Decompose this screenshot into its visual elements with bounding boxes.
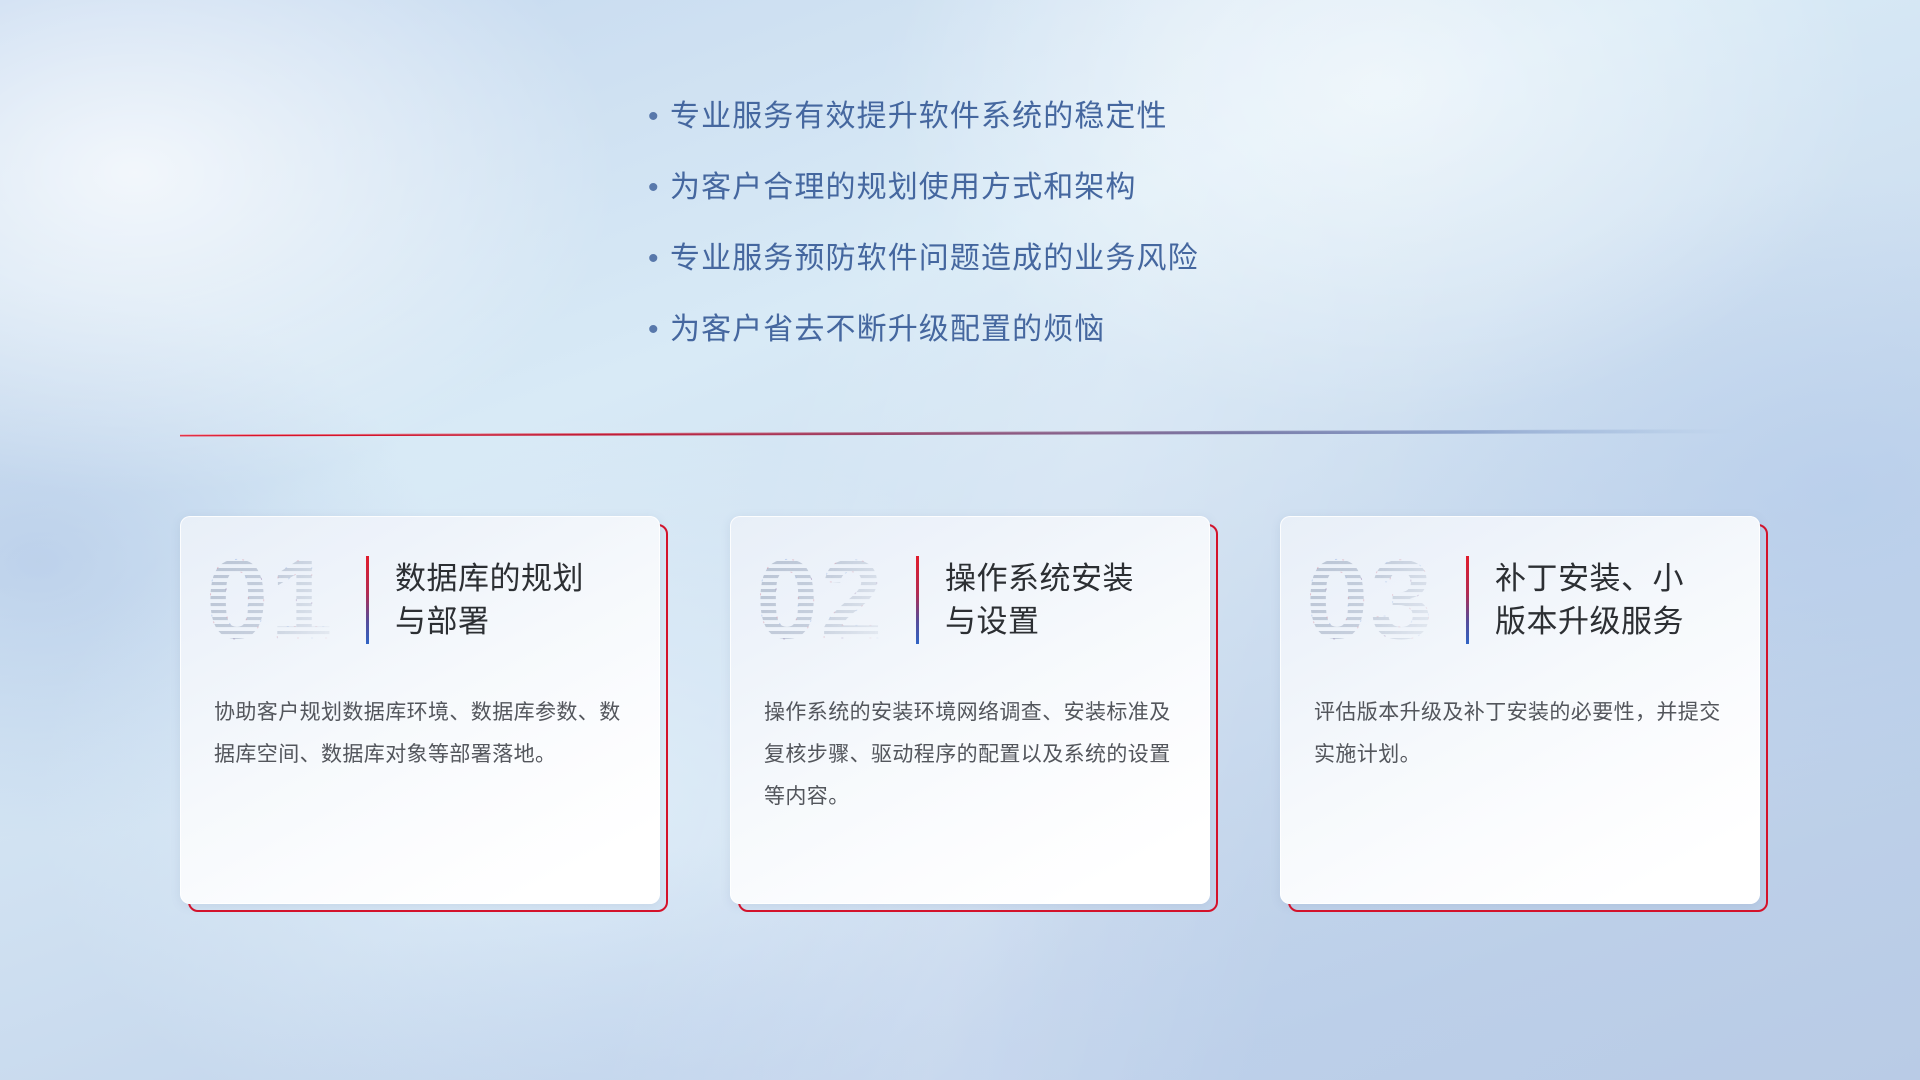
striped-number-icon: 02 02 02 (754, 540, 906, 660)
card-surface: 01 01 01 数据库的规划 与部署 协助客户规划数据库环境、数据库参数、数据… (180, 516, 660, 904)
card-title: 操作系统安装 与设置 (945, 557, 1134, 643)
card-surface: 02 02 02 操作系统安装 与设置 操作系统的安装环境网络调查、安装标准及复… (730, 516, 1210, 904)
card-title: 补丁安装、小 版本升级服务 (1495, 557, 1684, 643)
card-number-watermark: 03 03 03 (1304, 540, 1456, 660)
card-title-accent-bar (916, 556, 919, 644)
card-title-line-1: 补丁安装、小 (1495, 557, 1684, 600)
list-item: • 为客户合理的规划使用方式和架构 (640, 167, 1340, 209)
list-item: • 专业服务预防软件问题造成的业务风险 (640, 238, 1340, 280)
card-title-line-2: 与设置 (945, 600, 1134, 643)
bullet-text: 为客户合理的规划使用方式和架构 (670, 167, 1137, 209)
bullet-text: 专业服务有效提升软件系统的稳定性 (670, 96, 1168, 138)
service-card[interactable]: 03 03 03 补丁安装、小 版本升级服务 评估版本升级及补丁安装的必要性，并… (1280, 516, 1760, 904)
card-number-watermark: 01 01 01 (204, 540, 356, 660)
bullet-text: 专业服务预防软件问题造成的业务风险 (670, 238, 1199, 280)
card-surface: 03 03 03 补丁安装、小 版本升级服务 评估版本升级及补丁安装的必要性，并… (1280, 516, 1760, 904)
list-item: • 专业服务有效提升软件系统的稳定性 (640, 96, 1340, 138)
card-body-text: 操作系统的安装环境网络调查、安装标准及复核步骤、驱动程序的配置以及系统的设置等内… (764, 692, 1178, 818)
bullet-dot-icon: • (640, 167, 670, 209)
bullet-dot-icon: • (640, 238, 670, 280)
divider-rule-icon (180, 424, 1740, 440)
card-header: 02 02 02 操作系统安装 与设置 (730, 534, 1210, 666)
card-title-line-1: 数据库的规划 (395, 557, 584, 600)
card-title-line-2: 版本升级服务 (1495, 600, 1684, 643)
bullet-text: 为客户省去不断升级配置的烦恼 (670, 309, 1105, 351)
svg-text:02: 02 (756, 540, 885, 660)
bullet-dot-icon: • (640, 96, 670, 138)
service-card[interactable]: 01 01 01 数据库的规划 与部署 协助客户规划数据库环境、数据库参数、数据… (180, 516, 660, 904)
card-body-text: 协助客户规划数据库环境、数据库参数、数据库空间、数据库对象等部署落地。 (214, 692, 628, 776)
service-card-group: 01 01 01 数据库的规划 与部署 协助客户规划数据库环境、数据库参数、数据… (180, 516, 1760, 916)
bullet-dot-icon: • (640, 309, 670, 351)
card-title-accent-bar (366, 556, 369, 644)
card-header: 03 03 03 补丁安装、小 版本升级服务 (1280, 534, 1760, 666)
service-card[interactable]: 02 02 02 操作系统安装 与设置 操作系统的安装环境网络调查、安装标准及复… (730, 516, 1210, 904)
card-title-line-1: 操作系统安装 (945, 557, 1134, 600)
svg-text:01: 01 (206, 540, 335, 660)
card-title-line-2: 与部署 (395, 600, 584, 643)
card-title-accent-bar (1466, 556, 1469, 644)
list-item: • 为客户省去不断升级配置的烦恼 (640, 309, 1340, 351)
svg-text:03: 03 (1306, 540, 1435, 660)
section-divider (180, 424, 1740, 440)
card-number-watermark: 02 02 02 (754, 540, 906, 660)
striped-number-icon: 01 01 01 (204, 540, 356, 660)
bullet-list: • 专业服务有效提升软件系统的稳定性 • 为客户合理的规划使用方式和架构 • 专… (640, 96, 1340, 380)
striped-number-icon: 03 03 03 (1304, 540, 1456, 660)
card-header: 01 01 01 数据库的规划 与部署 (180, 534, 660, 666)
card-body-text: 评估版本升级及补丁安装的必要性，并提交实施计划。 (1314, 692, 1728, 776)
card-title: 数据库的规划 与部署 (395, 557, 584, 643)
